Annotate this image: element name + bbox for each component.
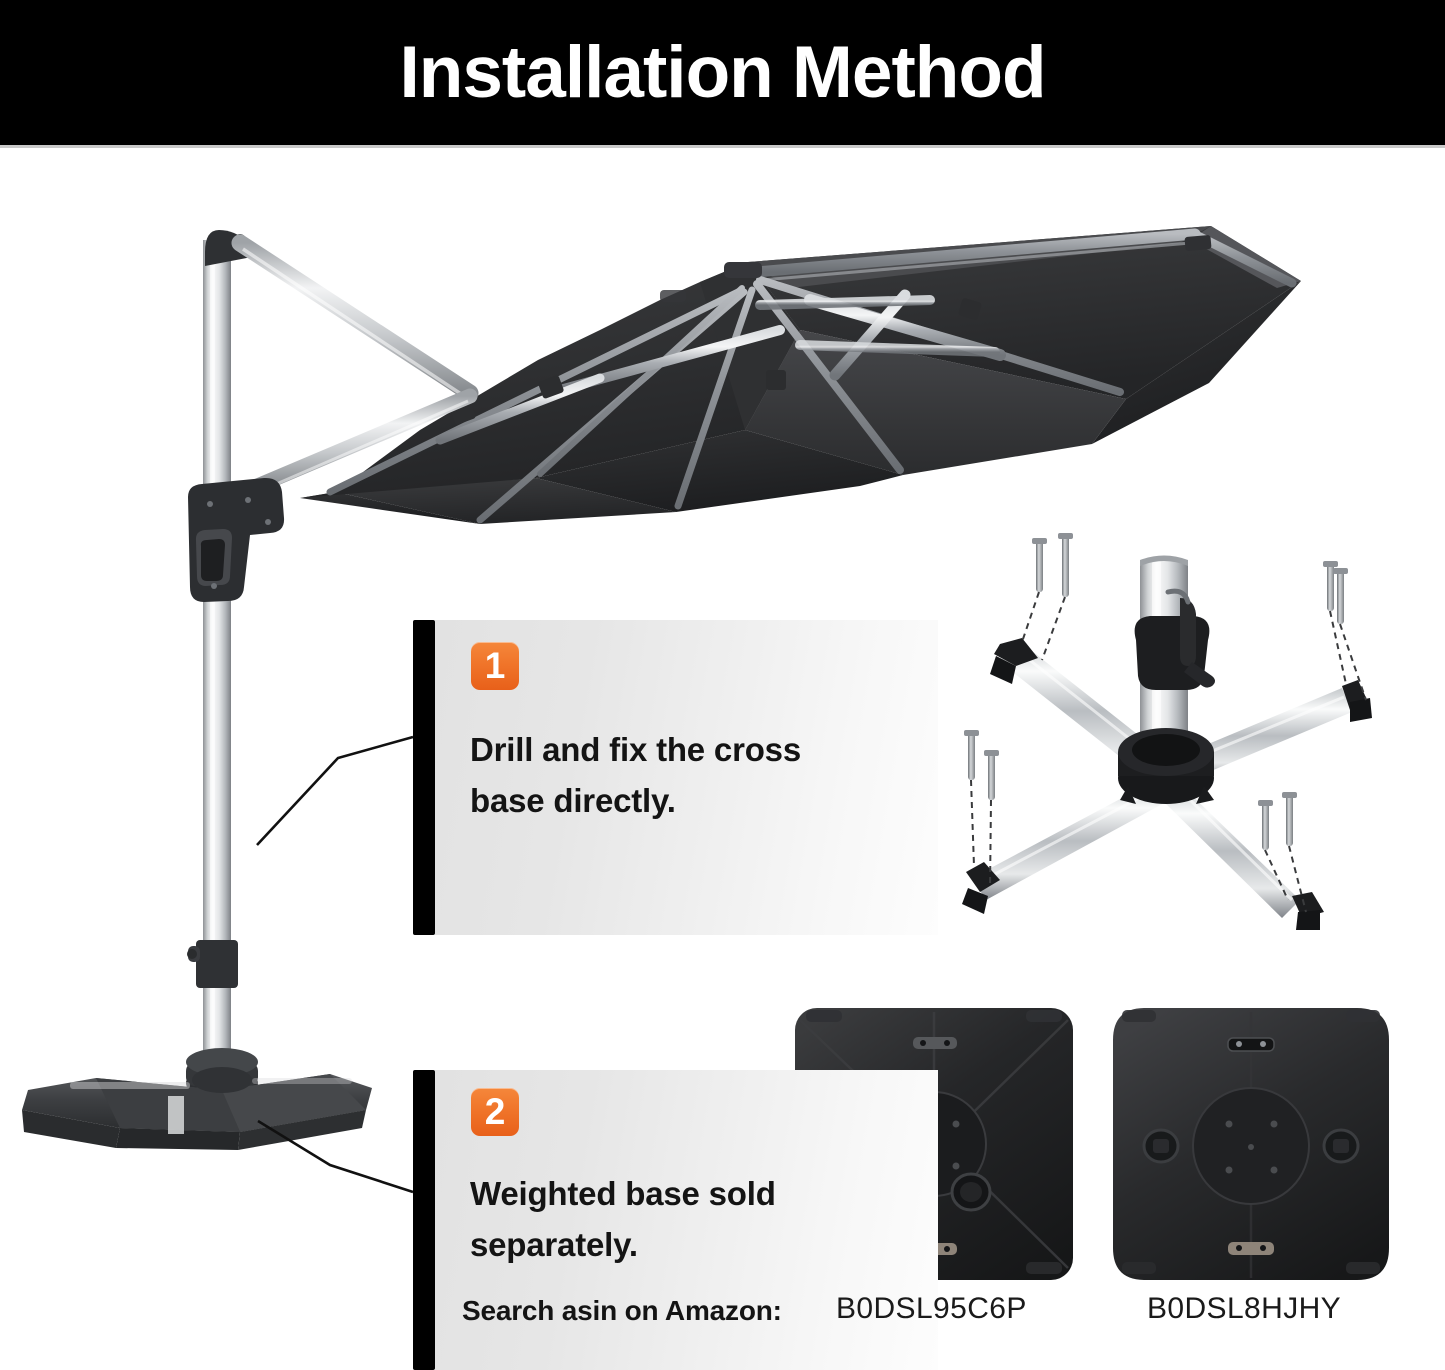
callout-step-1: 1 Drill and fix the cross base directly. bbox=[413, 620, 938, 935]
step-badge-number-1: 1 bbox=[485, 647, 506, 684]
page-title: Installation Method bbox=[399, 36, 1045, 109]
asin-code-left: B0DSL95C6P bbox=[836, 1292, 1027, 1326]
header-bar: Installation Method bbox=[0, 0, 1445, 145]
step-badge-number-2: 2 bbox=[485, 1093, 506, 1130]
asin-search-label: Search asin on Amazon: bbox=[462, 1295, 782, 1327]
step-description-2: Weighted base sold separately. bbox=[470, 1168, 910, 1270]
step-description-1: Drill and fix the cross base directly. bbox=[470, 724, 910, 826]
step-badge-1: 1 bbox=[471, 642, 519, 690]
step-badge-2: 2 bbox=[471, 1088, 519, 1136]
asin-code-right: B0DSL8HJHY bbox=[1147, 1292, 1341, 1326]
callout-accent-bar-1 bbox=[413, 620, 435, 935]
callout-accent-bar-2 bbox=[413, 1070, 435, 1370]
infographic-page: Installation Method bbox=[0, 0, 1445, 1370]
